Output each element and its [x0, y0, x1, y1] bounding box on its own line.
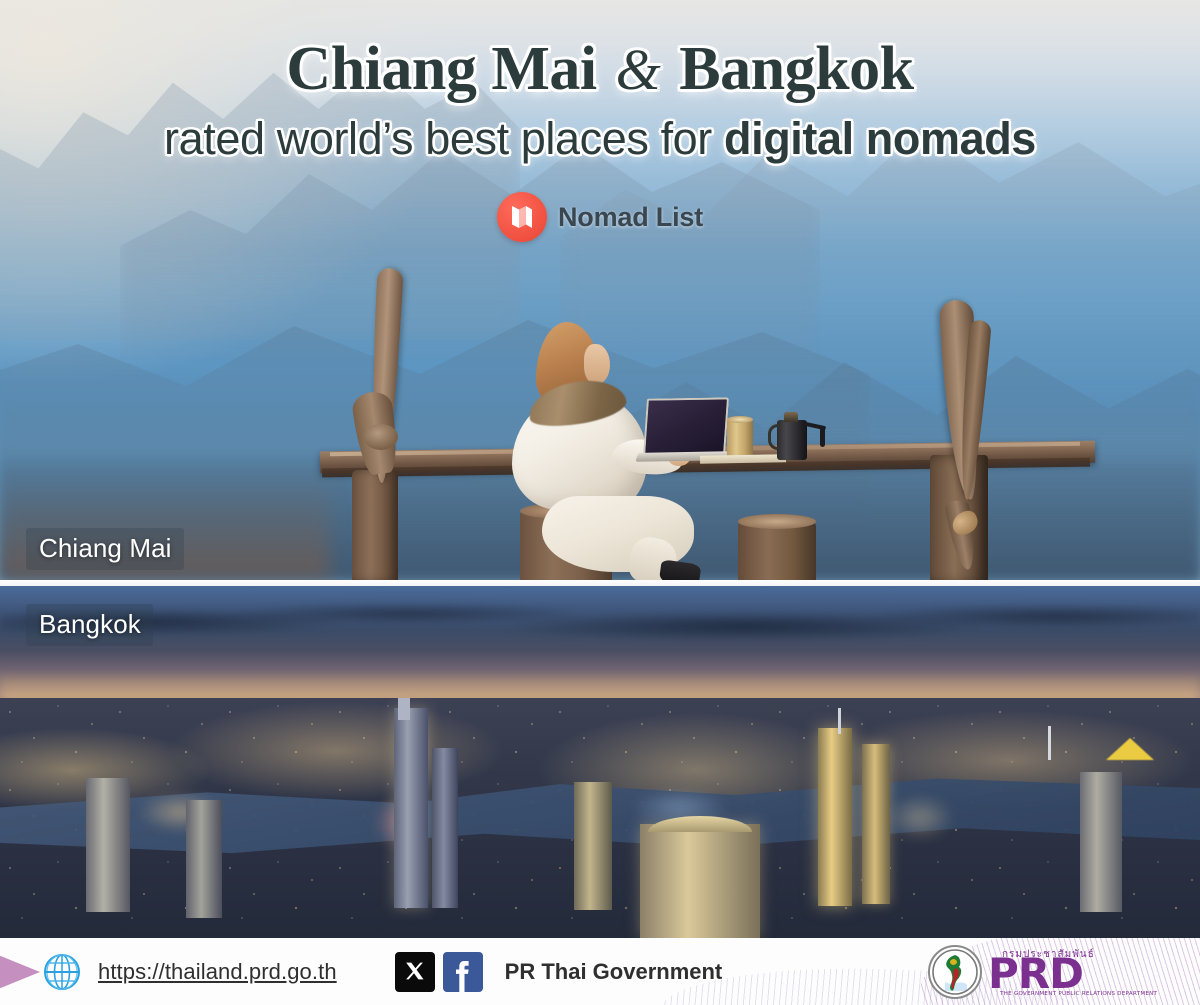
globe-icon [42, 952, 82, 992]
panel-divider [0, 580, 1200, 586]
nomad-list-label: Nomad List [558, 202, 703, 233]
panel-bangkok: Bangkok [0, 586, 1200, 938]
driftwood-post-left [352, 470, 398, 580]
page-title: Chiang Mai & Bangkok [0, 38, 1200, 101]
x-twitter-link[interactable] [395, 952, 435, 992]
nomad-list-badge [497, 192, 547, 242]
subtitle-prefix: rated world’s best places for [164, 113, 724, 164]
skyscraper-left-b [186, 800, 222, 918]
prd-tagline: THE GOVERNMENT PUBLIC RELATIONS DEPARTME… [1000, 991, 1126, 997]
website-link[interactable]: https://thailand.prd.go.th [98, 959, 337, 985]
page-subtitle: rated world’s best places for digital no… [0, 115, 1200, 162]
person-face [584, 344, 610, 384]
thailand-map-emblem-icon [928, 945, 982, 999]
skyscraper-left-a [86, 778, 130, 912]
skyscraper-center-b [432, 748, 458, 908]
facebook-link[interactable] [443, 952, 483, 992]
antenna-spire-b [1048, 726, 1051, 760]
skyscraper-center-c [574, 782, 612, 910]
footer-bar: https://thailand.prd.go.th PR Thai Gover… [0, 938, 1200, 1005]
notebook-paper [700, 454, 786, 463]
kettle-lid [784, 412, 798, 422]
antenna-spire-a [838, 708, 841, 734]
social-handle: PR Thai Government [505, 959, 723, 985]
kettle-handle [768, 424, 780, 450]
social-links: PR Thai Government [395, 952, 723, 992]
prd-acronym: PRD [988, 953, 1083, 995]
prd-logo[interactable]: กรมประชาสัมพันธ์ PRD THE GOVERNMENT PUBL… [928, 944, 1126, 1000]
skyscraper-tallest [394, 708, 428, 908]
caption-bangkok: Bangkok [26, 604, 153, 646]
tree-stump-second-top [738, 514, 816, 529]
poster-root: Chiang Mai Chiang Mai & Bangkok rated wo… [0, 0, 1200, 1005]
facebook-icon [443, 952, 483, 992]
x-twitter-icon [403, 960, 427, 984]
cloud-band [0, 594, 1200, 664]
riverside-hotel-block [640, 824, 760, 938]
skyscraper-tallest-crown [398, 698, 410, 720]
caption-chiang-mai: Chiang Mai [26, 528, 184, 570]
skyscraper-gold-b [862, 744, 890, 904]
subtitle-emphasis: digital nomads [724, 113, 1036, 164]
laptop-screen [643, 397, 729, 456]
skyscraper-gold-a [818, 728, 852, 906]
title-part-bangkok: Bangkok [679, 35, 913, 103]
tree-stump-second [738, 520, 816, 580]
prd-wordmark: กรมประชาสัมพันธ์ PRD THE GOVERNMENT PUBL… [988, 945, 1126, 999]
kettle-spout-tip [820, 427, 825, 447]
coffee-cup-rim [727, 416, 753, 423]
driftwood-knot-left [364, 424, 398, 450]
headline-block: Chiang Mai & Bangkok rated world’s best … [0, 38, 1200, 162]
illuminated-roof-icon [1106, 738, 1154, 760]
title-part-chiang-mai: Chiang Mai [286, 35, 596, 103]
pour-over-kettle [777, 420, 807, 460]
title-ampersand: & [612, 37, 665, 102]
map-fold-icon [509, 203, 535, 231]
source-attribution: Nomad List [0, 192, 1200, 242]
skyscraper-right [1080, 772, 1122, 912]
person-boot [659, 559, 702, 580]
thailand-map-icon [931, 948, 979, 996]
